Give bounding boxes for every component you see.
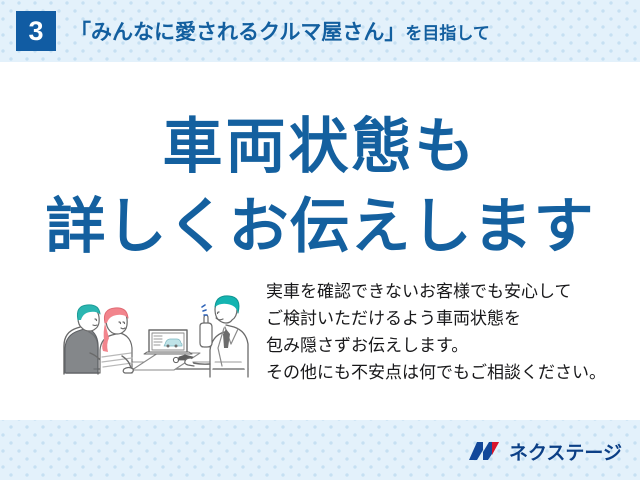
brand-logo: ネクステージ [468, 438, 622, 464]
nextage-n-mark-icon [468, 439, 502, 463]
section-number-badge: 3 [16, 11, 56, 51]
headline-line-1: 車両状態も [0, 98, 640, 185]
header-title-quoted: 「みんなに愛されるクルマ屋さん」 [70, 16, 405, 46]
body-copy-line: その他にも不安点は何でもご相談ください。 [266, 359, 616, 386]
headline-line-2: 詳しくお伝えします [0, 178, 640, 265]
promo-banner: 3 「みんなに愛されるクルマ屋さん」 を目指して 車両状態も 詳しくお伝えします [0, 0, 640, 480]
body-copy-line: 包み隠さずお伝えします。 [266, 332, 616, 359]
content-card: 車両状態も 詳しくお伝えします [0, 62, 640, 420]
body-copy-line: 実車を確認できないお客様でも安心して [266, 278, 616, 305]
header-bar: 3 「みんなに愛されるクルマ屋さん」 を目指して [0, 0, 640, 62]
consultation-illustration [52, 274, 262, 392]
body-copy: 実車を確認できないお客様でも安心して ご検討いただけるよう車両状態を 包み隠さず… [266, 278, 616, 386]
header-title: 「みんなに愛されるクルマ屋さん」 を目指して [70, 16, 490, 46]
body-copy-line: ご検討いただけるよう車両状態を [266, 305, 616, 332]
header-title-suffix: を目指して [405, 19, 490, 44]
brand-logo-text: ネクステージ [509, 438, 622, 465]
